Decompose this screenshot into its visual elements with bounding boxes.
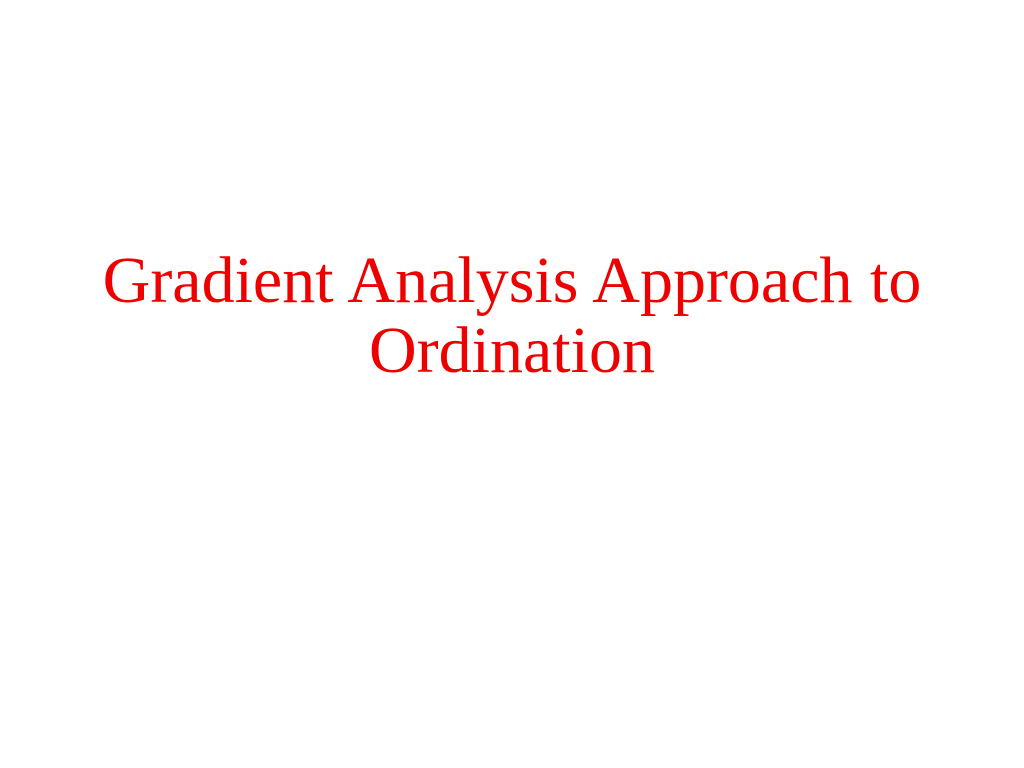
slide-canvas: Gradient Analysis Approach to Ordination [0, 0, 1024, 768]
title-placeholder[interactable]: Gradient Analysis Approach to Ordination [62, 246, 962, 386]
slide-content-area: Gradient Analysis Approach to Ordination [0, 0, 1024, 768]
page-title: Gradient Analysis Approach to Ordination [62, 246, 962, 386]
